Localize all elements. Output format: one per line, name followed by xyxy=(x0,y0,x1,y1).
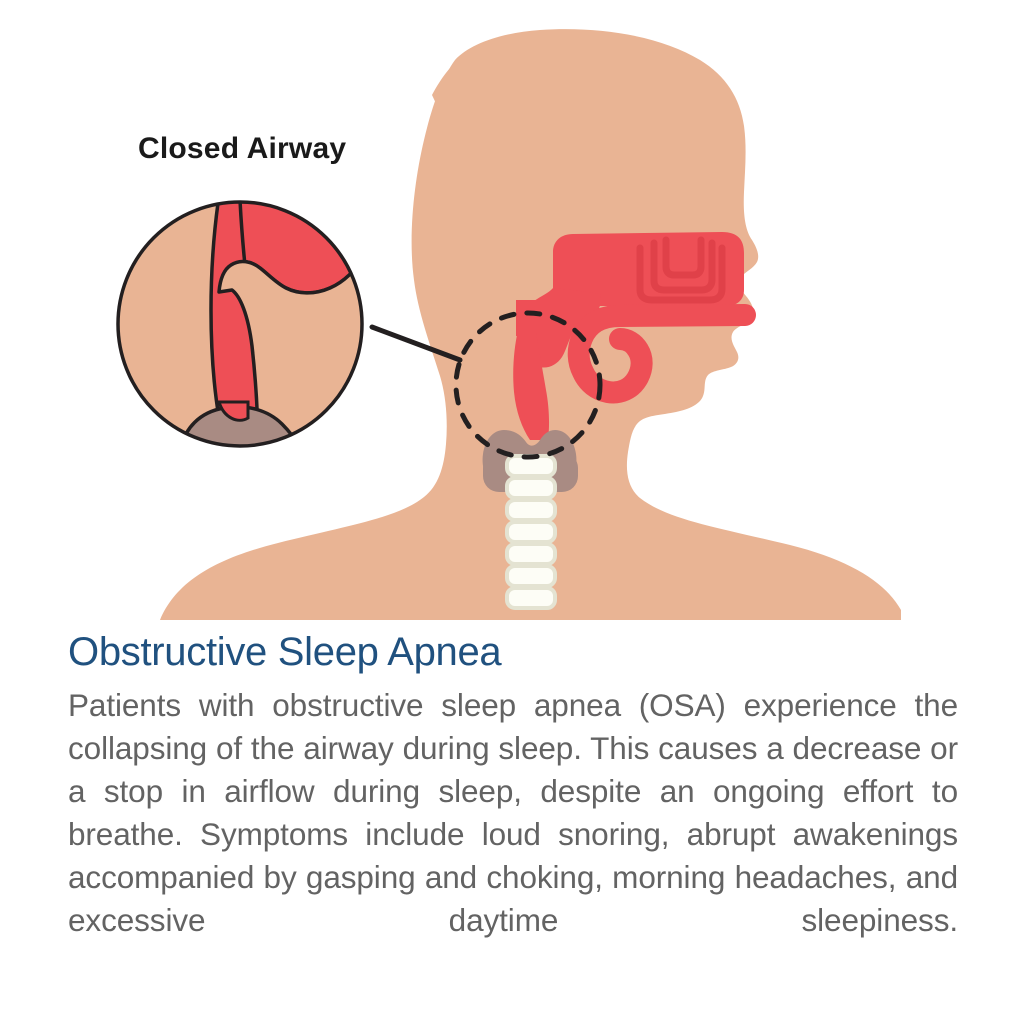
trachea-ring xyxy=(507,500,555,520)
trachea-ring xyxy=(507,478,555,498)
trachea-ring xyxy=(507,566,555,586)
trachea-ring xyxy=(507,522,555,542)
trachea-ring xyxy=(507,588,555,608)
page-root: Closed Airway Obstructive Sleep Apnea Pa… xyxy=(0,0,1024,1024)
magnified-inset xyxy=(118,196,370,470)
text-block: Obstructive Sleep Apnea Patients with ob… xyxy=(68,628,958,985)
inset-label: Closed Airway xyxy=(138,132,346,166)
trachea-ring xyxy=(507,544,555,564)
description-paragraph: Patients with obstructive sleep apnea (O… xyxy=(68,684,958,985)
page-title: Obstructive Sleep Apnea xyxy=(68,628,958,676)
trachea xyxy=(507,456,555,608)
pharynx-upper xyxy=(516,300,536,336)
anatomy-illustration: Closed Airway xyxy=(0,0,1024,620)
